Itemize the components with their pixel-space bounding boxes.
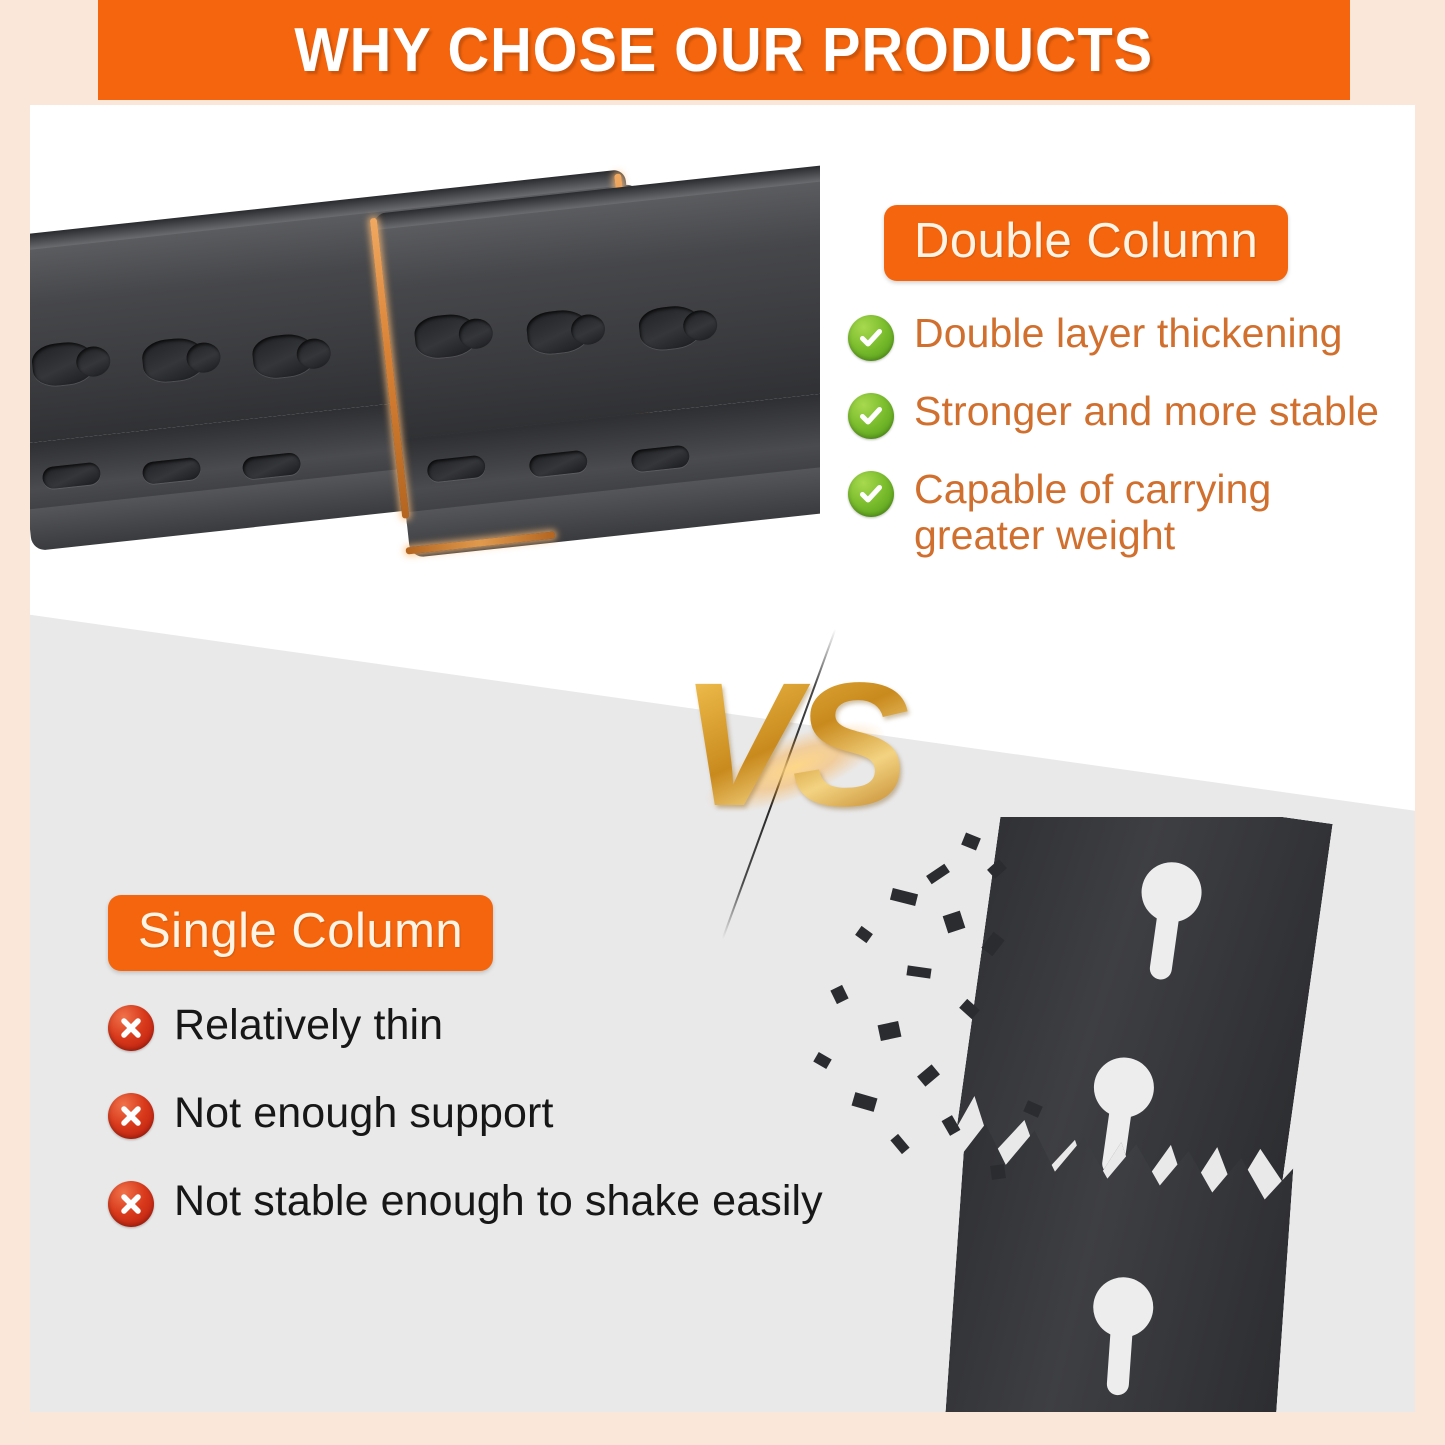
rail-slot xyxy=(140,336,206,384)
debris-fragment xyxy=(917,1064,940,1086)
debris-fragment xyxy=(990,1164,1006,1180)
rail-slot xyxy=(637,303,703,351)
list-item: Not stable enough to shake easily xyxy=(108,1177,868,1227)
list-item: Double layer thickening xyxy=(848,311,1408,361)
debris-fragment xyxy=(942,1115,961,1136)
rail-slot xyxy=(251,332,317,380)
rail-lip-slot xyxy=(142,457,202,485)
bullet-label: Double layer thickening xyxy=(914,311,1343,357)
rail-slot xyxy=(30,340,96,388)
rail-lip-slot xyxy=(426,455,486,483)
list-item: Not enough support xyxy=(108,1089,868,1139)
rail-lip-slot xyxy=(41,462,101,490)
post-keyhole-slot xyxy=(1138,858,1206,926)
post-keyhole-slot xyxy=(1091,1275,1155,1339)
page-title: WHY CHOSE OUR PRODUCTS xyxy=(295,15,1154,86)
rail-slot xyxy=(413,312,479,360)
debris-fragment xyxy=(878,1021,902,1041)
check-circle-icon xyxy=(848,471,894,517)
rail-slot xyxy=(525,308,591,356)
double-column-bullet-list: Double layer thickening Stronger and mor… xyxy=(848,311,1408,559)
versus-emblem: VS xyxy=(642,645,942,915)
post-keyhole-slot xyxy=(1090,1054,1158,1122)
bullet-label: Not stable enough to shake easily xyxy=(174,1177,823,1225)
check-circle-icon xyxy=(848,393,894,439)
single-column-badge: Single Column xyxy=(108,895,493,971)
double-column-badge: Double Column xyxy=(884,205,1288,281)
debris-fragment xyxy=(906,965,931,978)
cross-circle-icon xyxy=(108,1181,154,1227)
content-canvas: VS Double Column Double layer thickening xyxy=(30,105,1415,1412)
bullet-label: Not enough support xyxy=(174,1089,554,1137)
debris-fragment xyxy=(890,1134,909,1154)
single-column-panel: Single Column Relatively thin xyxy=(108,895,868,1265)
rail-front xyxy=(375,163,820,558)
check-circle-icon xyxy=(848,315,894,361)
double-column-panel: Double Column Double layer thickening xyxy=(848,205,1408,587)
debris-fragment xyxy=(943,911,966,934)
double-column-rail-photo xyxy=(30,135,820,625)
single-column-bullet-list: Relatively thin Not enough support xyxy=(108,1001,868,1227)
rail-lip-slot xyxy=(242,452,302,480)
product-comparison-poster: WHY CHOSE OUR PRODUCTS xyxy=(0,0,1445,1445)
cross-circle-icon xyxy=(108,1005,154,1051)
debris-fragment xyxy=(961,832,981,850)
list-item: Relatively thin xyxy=(108,1001,868,1051)
header-banner: WHY CHOSE OUR PRODUCTS xyxy=(98,0,1350,100)
bullet-label: Relatively thin xyxy=(174,1001,443,1049)
bullet-label: Stronger and more stable xyxy=(914,389,1379,435)
bullet-label: Capable of carrying greater weight xyxy=(914,467,1314,559)
cross-circle-icon xyxy=(108,1093,154,1139)
list-item: Capable of carrying greater weight xyxy=(848,467,1408,559)
versus-label: VS xyxy=(642,645,942,845)
rail-lip-slot xyxy=(528,450,588,478)
list-item: Stronger and more stable xyxy=(848,389,1408,439)
rail-lip-slot xyxy=(630,445,690,473)
